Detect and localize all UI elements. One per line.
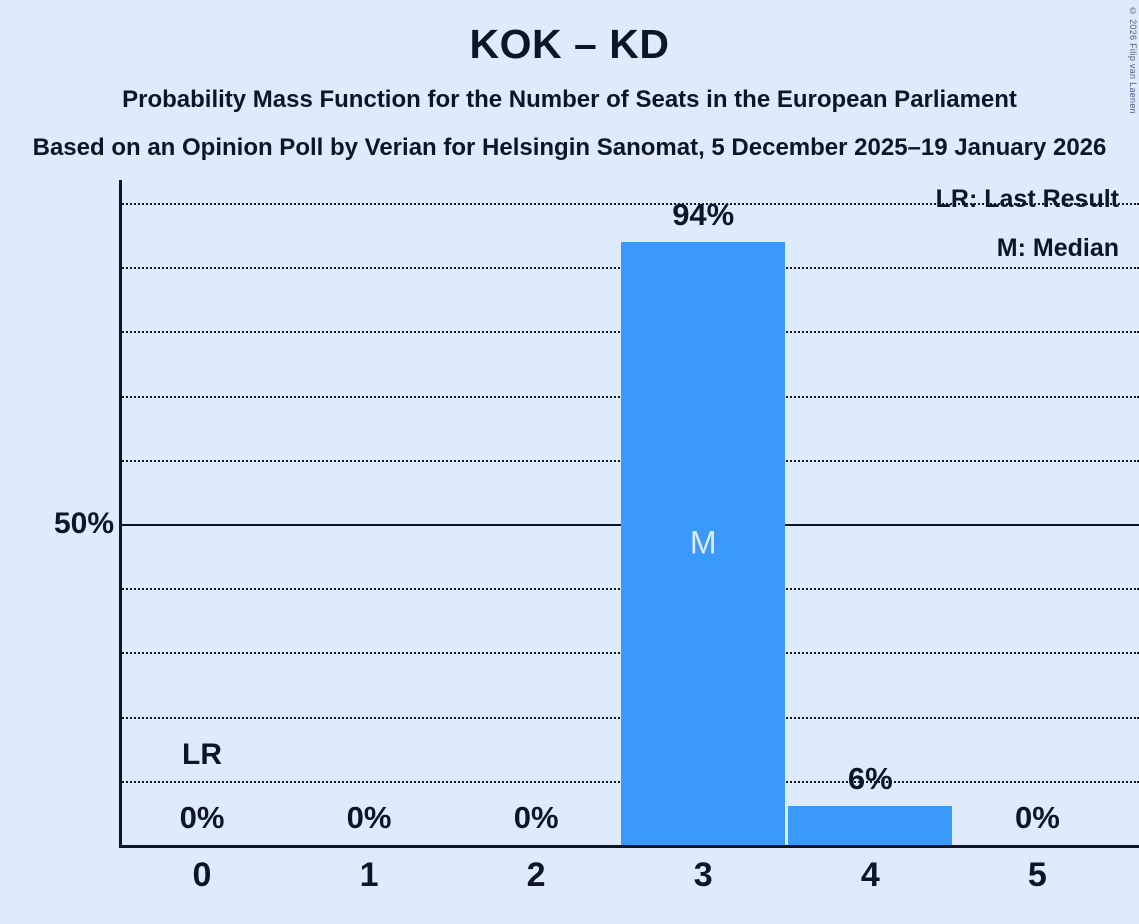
- median-marker: M: [690, 525, 717, 562]
- last-result-marker: LR: [182, 738, 222, 772]
- bar-value-label-0: 0%: [180, 800, 225, 836]
- chart-subtitle-primary: Probability Mass Function for the Number…: [0, 88, 1139, 112]
- bar-value-label-3: 94%: [672, 197, 734, 233]
- chart-subtitle-source: Based on an Opinion Poll by Verian for H…: [0, 136, 1139, 160]
- x-axis-tick-label-1: 1: [360, 856, 379, 895]
- gridline-100: [119, 203, 1139, 205]
- y-axis-line: [119, 180, 122, 848]
- x-axis-tick-label-3: 3: [694, 856, 713, 895]
- bar-value-label-4: 6%: [848, 761, 893, 797]
- bar-value-label-1: 0%: [347, 800, 392, 836]
- page-title: KOK – KD: [0, 24, 1139, 65]
- x-axis-tick-label-0: 0: [193, 856, 212, 895]
- copyright-notice: © 2026 Filip van Laenen: [1128, 6, 1138, 114]
- y-axis-tick-label-50: 50%: [54, 507, 114, 541]
- x-axis-tick-label-2: 2: [527, 856, 546, 895]
- bar-value-label-2: 0%: [514, 800, 559, 836]
- bar-seats-4[interactable]: [788, 806, 952, 845]
- x-axis-tick-label-4: 4: [861, 856, 880, 895]
- x-axis-tick-label-5: 5: [1028, 856, 1047, 895]
- bar-value-label-5: 0%: [1015, 800, 1060, 836]
- x-axis-line: [119, 845, 1139, 848]
- chart-canvas: KOK – KD Probability Mass Function for t…: [0, 0, 1139, 924]
- plot-area: 50% 0%0%0%94%6%0% 012345 MLR: [119, 180, 1139, 848]
